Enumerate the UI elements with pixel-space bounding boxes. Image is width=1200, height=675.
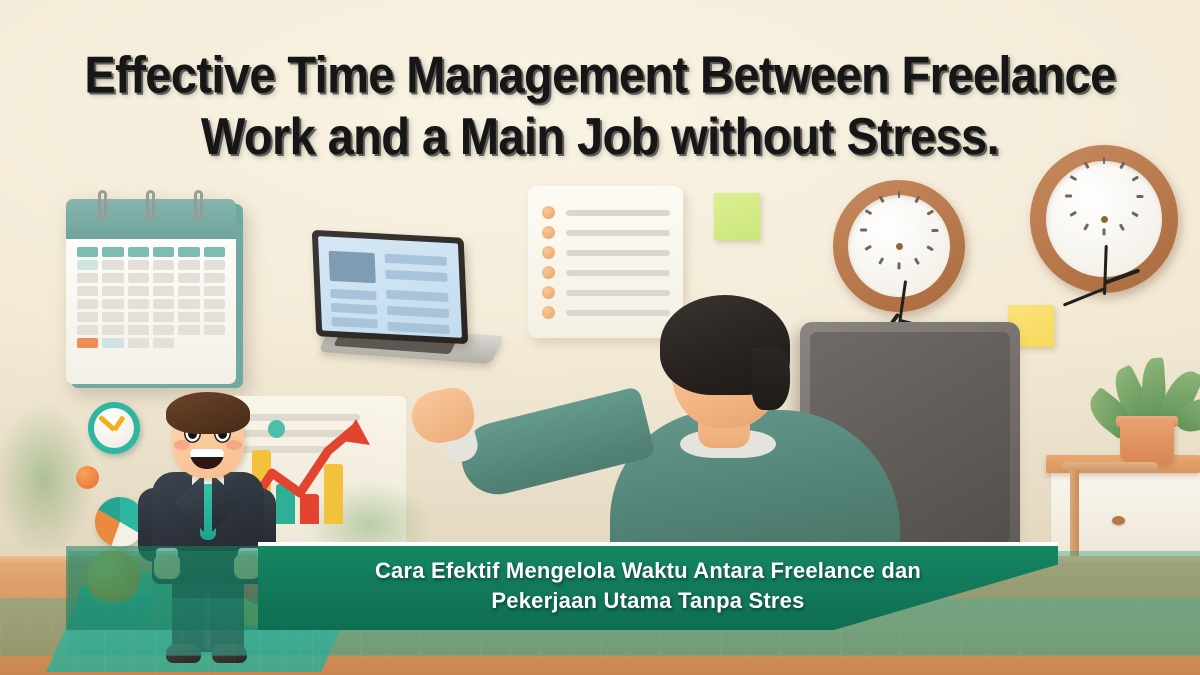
banner-title-line-2: Pekerjaan Utama Tanpa Stres <box>298 586 998 616</box>
checklist-bullet-icon <box>542 286 555 299</box>
banner-title: Cara Efektif Mengelola Waktu Antara Free… <box>298 556 998 616</box>
laptop-lid <box>312 230 468 344</box>
orange-dot-decoration <box>76 466 99 489</box>
banner-top-border <box>258 542 1058 546</box>
headline-line-2: Work and a Main Job without Stress. <box>0 106 1200 168</box>
title-banner: Cara Efektif Mengelola Waktu Antara Free… <box>258 546 1058 630</box>
checklist-bullet-icon <box>542 226 555 239</box>
clock-center-pin <box>1101 216 1108 223</box>
poster-canvas: Effective Time Management Between Freela… <box>0 0 1200 675</box>
wall-clock-right <box>1030 145 1178 293</box>
calendar-ring-icon <box>98 190 107 220</box>
sticky-note-green <box>714 193 760 240</box>
calendar-grid <box>77 247 225 348</box>
checklist-bullet-icon <box>542 206 555 219</box>
plant-pot <box>1120 420 1174 464</box>
banner-title-line-1: Cara Efektif Mengelola Waktu Antara Free… <box>375 558 921 583</box>
checklist-bullet-icon <box>542 306 555 319</box>
laptop-display <box>318 236 462 338</box>
calendar-ring-icon <box>194 190 203 220</box>
headline-line-1: Effective Time Management Between Freela… <box>84 45 1115 103</box>
floating-laptop <box>300 234 500 374</box>
calendar-ring-icon <box>146 190 155 220</box>
mascot-cheek <box>226 440 242 450</box>
calendar-highlighted-day <box>77 338 98 348</box>
clock-icon <box>88 402 140 454</box>
person-at-desk <box>610 290 900 575</box>
cabinet-knob-icon <box>1112 516 1125 525</box>
page-title: Effective Time Management Between Freela… <box>0 44 1200 167</box>
banner-left-extension <box>66 546 262 630</box>
clock-center-pin <box>896 243 903 250</box>
potted-plant <box>1092 358 1200 468</box>
checklist-bullet-icon <box>542 266 555 279</box>
checklist-bullet-icon <box>542 246 555 259</box>
mascot-hair <box>166 392 250 434</box>
person-hair-side <box>752 348 790 410</box>
wall-calendar <box>66 199 241 386</box>
